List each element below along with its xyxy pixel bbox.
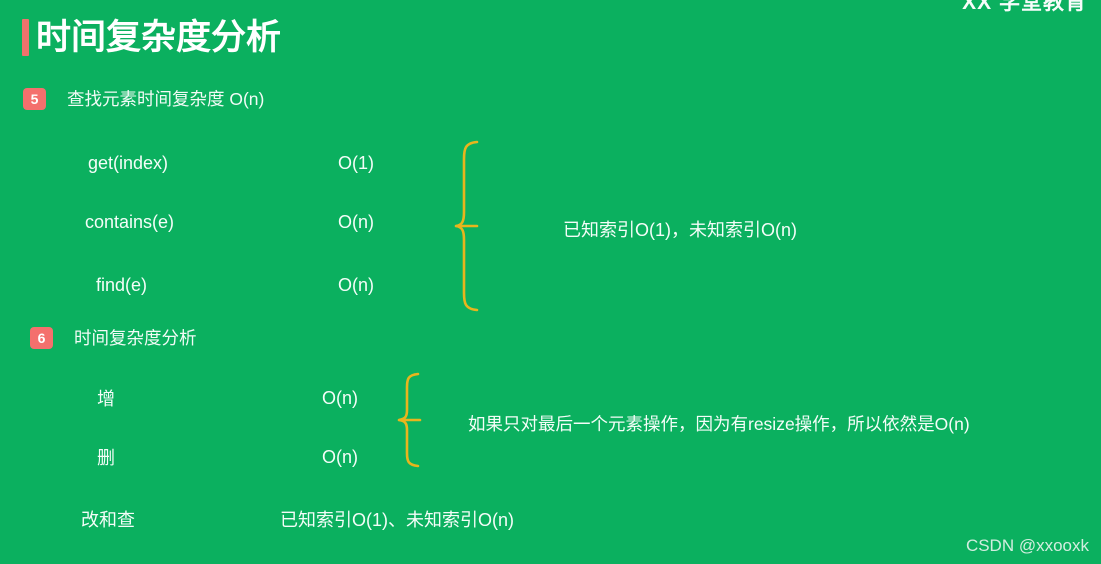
row-complexity: O(n): [322, 388, 358, 409]
section-header-5: 5 查找元素时间复杂度 O(n): [23, 86, 264, 111]
section-number-badge: 6: [30, 327, 53, 349]
table-row: contains(e) O(n): [85, 210, 174, 234]
watermark: CSDN @xxooxk: [966, 536, 1089, 556]
section-number-badge: 5: [23, 88, 46, 110]
page-title: 时间复杂度分析: [22, 14, 281, 60]
table-row: 改和查 已知索引O(1)、未知索引O(n): [81, 507, 135, 531]
title-text: 时间复杂度分析: [36, 20, 281, 55]
row-operation: find(e): [96, 275, 147, 296]
section-label: 时间复杂度分析: [74, 325, 197, 350]
curly-brace-icon: [455, 140, 515, 312]
slide-canvas: XX 学堂教育 时间复杂度分析 5 查找元素时间复杂度 O(n) get(ind…: [0, 0, 1101, 564]
row-operation: 增: [97, 385, 115, 411]
corner-logo: XX 学堂教育: [962, 0, 1087, 16]
row-operation: 改和查: [81, 506, 135, 532]
table-row: find(e) O(n): [96, 273, 147, 297]
curly-brace-icon: [398, 372, 454, 468]
table-row: 增 O(n): [97, 386, 115, 410]
title-accent-bar: [22, 19, 29, 56]
row-complexity: O(1): [338, 153, 374, 174]
table-row: 删 O(n): [97, 445, 115, 469]
row-complexity: O(n): [338, 275, 374, 296]
section-label: 查找元素时间复杂度 O(n): [67, 86, 264, 111]
table-row: get(index) O(1): [88, 151, 168, 175]
row-operation: get(index): [88, 153, 168, 174]
row-complexity: O(n): [322, 447, 358, 468]
row-complexity: 已知索引O(1)、未知索引O(n): [280, 506, 514, 532]
row-complexity: O(n): [338, 212, 374, 233]
annotation-text: 如果只对最后一个元素操作，因为有resize操作，所以依然是O(n): [468, 411, 970, 436]
row-operation: 删: [97, 444, 115, 470]
annotation-text: 已知索引O(1)，未知索引O(n): [563, 216, 797, 242]
section-header-6: 6 时间复杂度分析: [30, 325, 197, 350]
row-operation: contains(e): [85, 212, 174, 233]
